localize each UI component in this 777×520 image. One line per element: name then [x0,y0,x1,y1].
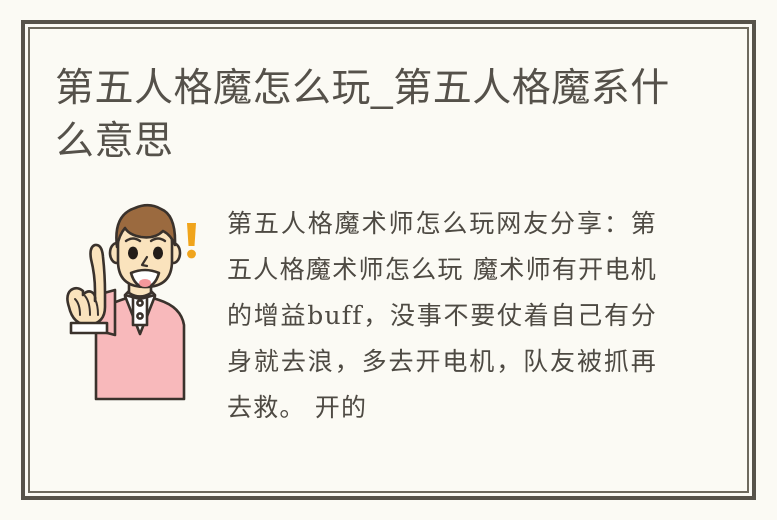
exclamation-mark [187,223,196,258]
article-body-text: 第五人格魔术师怎么玩网友分享：第五人格魔术师怎么玩 魔术师有开电机的增益buff… [227,201,657,431]
cartoon-man-pointing-up-icon [55,195,220,410]
article-content: 第五人格魔术师怎么玩网友分享：第五人格魔术师怎么玩 魔术师有开电机的增益buff… [55,195,675,440]
page-root: 第五人格魔怎么玩_第五人格魔系什么意思 [0,0,777,520]
page-title: 第五人格魔怎么玩_第五人格魔系什么意思 [55,62,695,168]
